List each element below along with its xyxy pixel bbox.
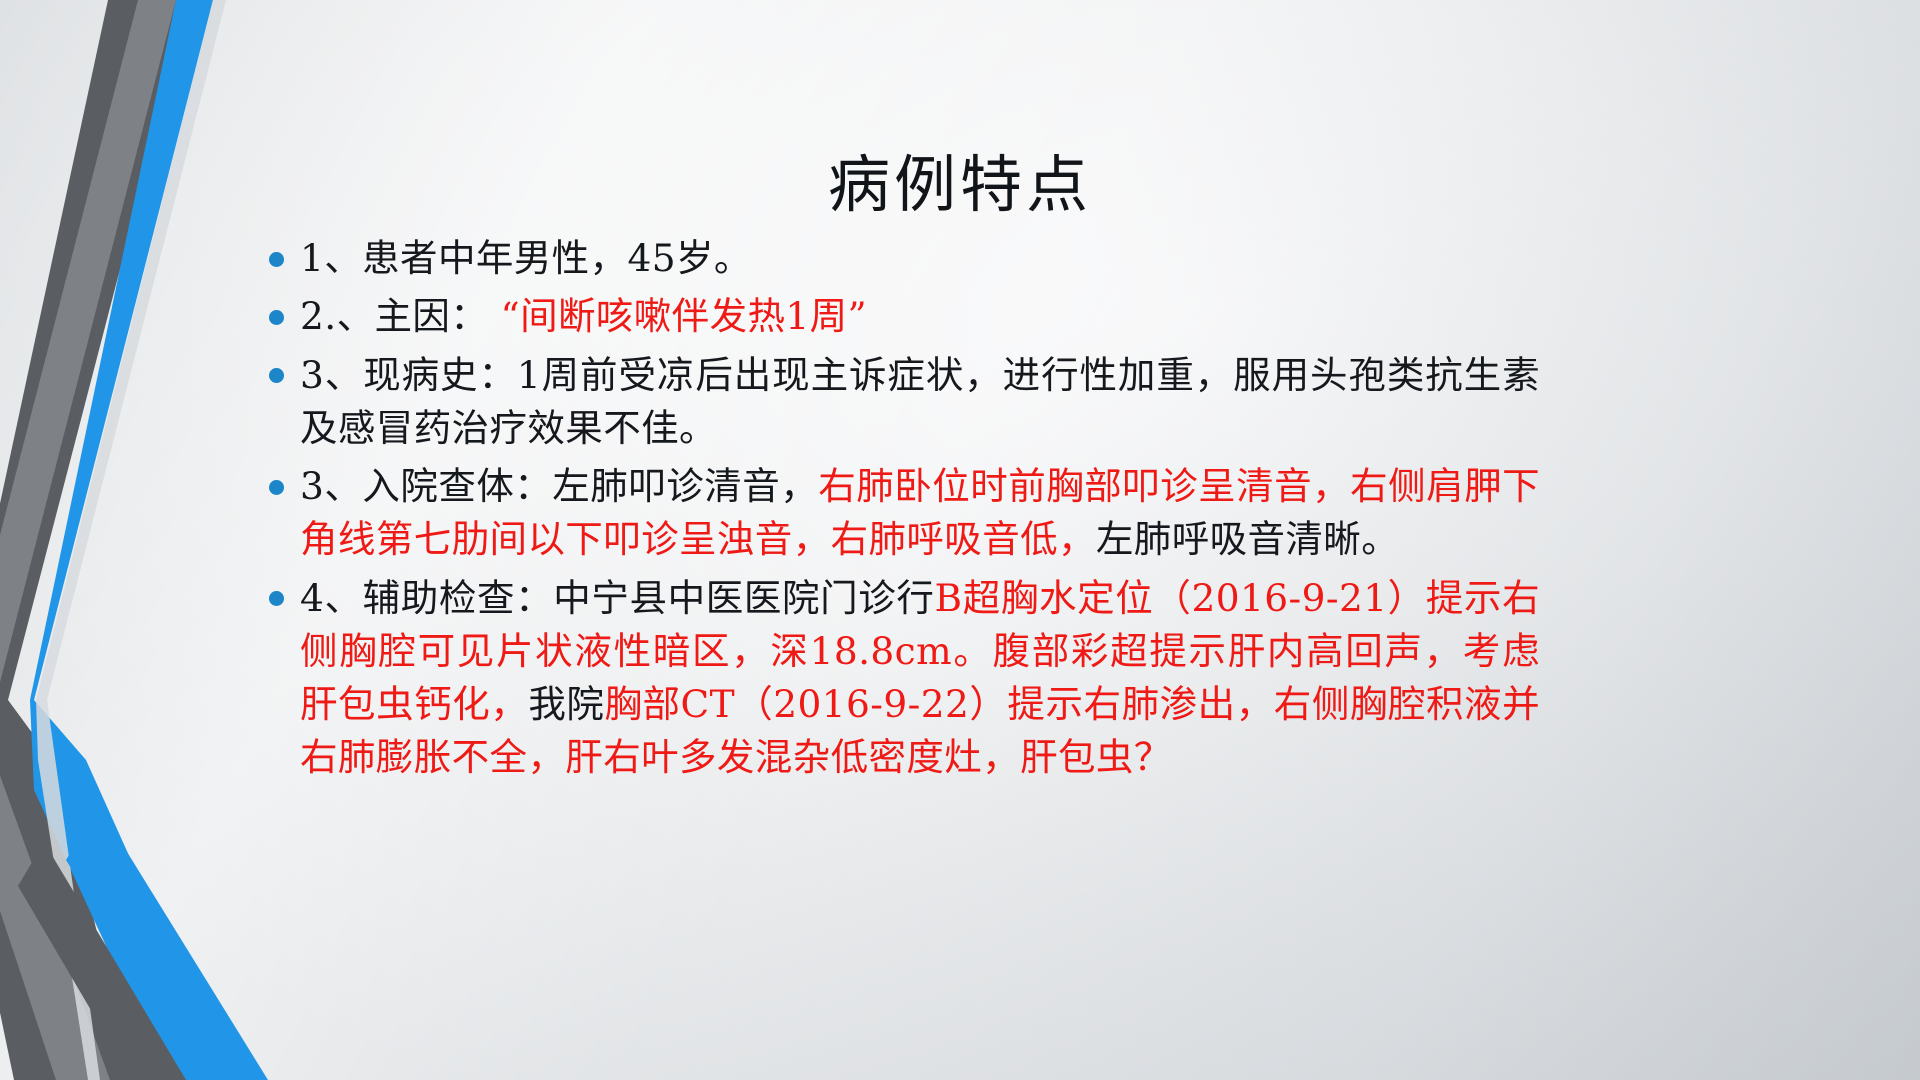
- text-run-normal-0: 3、入院查体：左肺叩诊清音，: [300, 464, 818, 508]
- text-run-highlight-1: “间断咳嗽伴发热1周”: [501, 294, 868, 338]
- text-run-normal-0: 2.、主因：: [300, 294, 501, 338]
- bullet-item-5: 4、辅助检查：中宁县中医医院门诊行B超胸水定位（2016-9-21）提示右侧胸腔…: [255, 572, 1540, 785]
- slide-title: 病例特点: [0, 152, 1920, 217]
- bullet-dot-icon: [269, 368, 284, 383]
- bullet-item-1: 1、患者中年男性，45岁。: [255, 232, 1540, 285]
- bullet-item-3: 3、现病史：1周前受凉后出现主诉症状，进行性加重，服用头孢类抗生素及感冒药治疗效…: [255, 349, 1540, 456]
- presentation-slide: 病例特点 1、患者中年男性，45岁。 2.、主因： “间断咳嗽伴发热1周” 3、…: [0, 0, 1920, 1080]
- bullet-dot-icon: [269, 310, 284, 325]
- bullet-text-4: 3、入院查体：左肺叩诊清音，右肺卧位时前胸部叩诊呈清音，右侧肩胛下角线第七肋间以…: [300, 464, 1540, 561]
- bullet-dot-icon: [269, 480, 284, 495]
- bullet-dot-icon: [269, 591, 284, 606]
- bullet-item-2: 2.、主因： “间断咳嗽伴发热1周”: [255, 290, 1540, 343]
- bullet-item-4: 3、入院查体：左肺叩诊清音，右肺卧位时前胸部叩诊呈清音，右侧肩胛下角线第七肋间以…: [255, 460, 1540, 567]
- bullet-text-5: 4、辅助检查：中宁县中医医院门诊行B超胸水定位（2016-9-21）提示右侧胸腔…: [300, 576, 1540, 780]
- deco-lower-blue-wedge: [66, 805, 268, 1080]
- text-run-normal-2: 我院: [528, 682, 604, 726]
- bullet-text-2: 2.、主因： “间断咳嗽伴发热1周”: [300, 294, 867, 338]
- bullet-text-1: 1、患者中年男性，45岁。: [300, 236, 752, 280]
- slide-body-content: 1、患者中年男性，45岁。 2.、主因： “间断咳嗽伴发热1周” 3、现病史：1…: [255, 232, 1540, 790]
- text-run-normal-0: 1、患者中年男性，45岁。: [300, 236, 752, 280]
- deco-lower-gray-wedge: [18, 842, 186, 1080]
- text-run-normal-0: 4、辅助检查：中宁县中医医院门诊行: [300, 576, 935, 620]
- bullet-dot-icon: [269, 252, 284, 267]
- bullet-text-3: 3、现病史：1周前受凉后出现主诉症状，进行性加重，服用头孢类抗生素及感冒药治疗效…: [300, 353, 1540, 450]
- text-run-normal-0: 3、现病史：1周前受凉后出现主诉症状，进行性加重，服用头孢类抗生素及感冒药治疗效…: [300, 353, 1540, 450]
- text-run-normal-2: 左肺呼吸音清晰。: [1096, 517, 1399, 561]
